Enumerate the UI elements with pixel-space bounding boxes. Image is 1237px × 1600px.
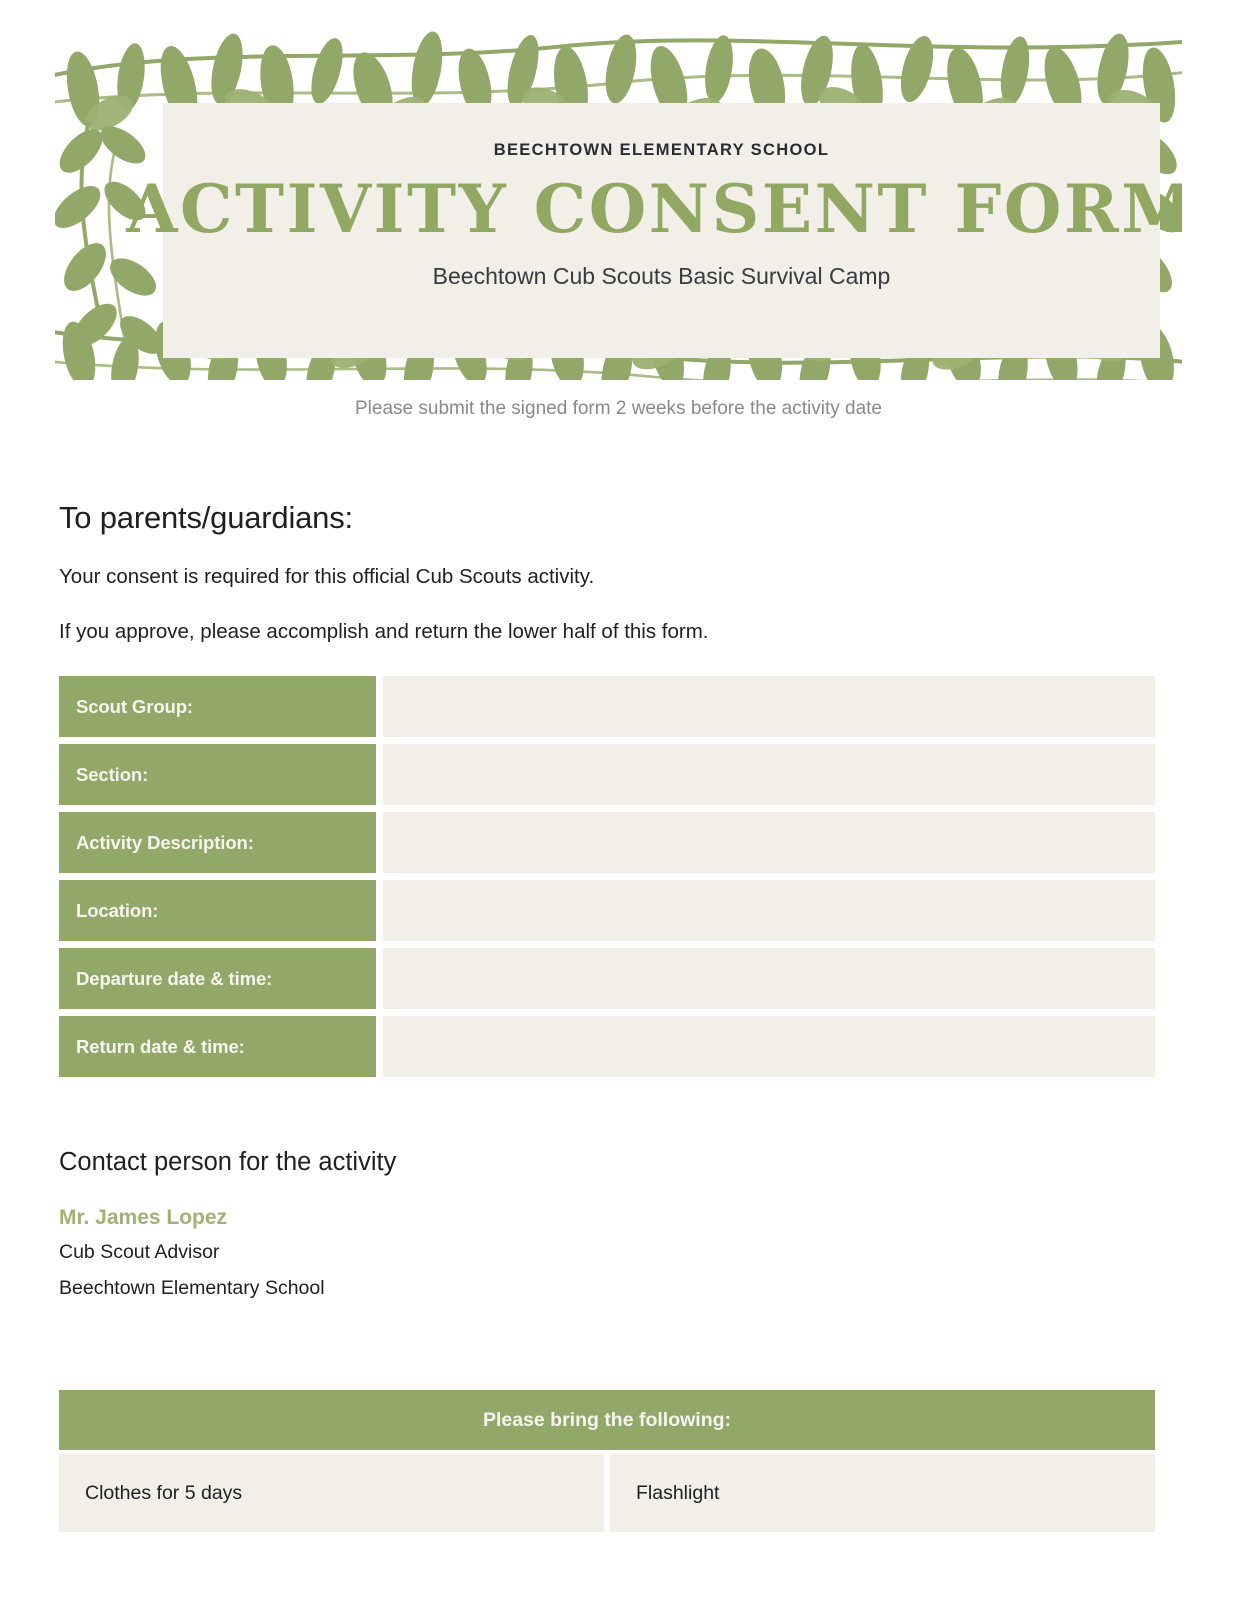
consent-form-page: BEECHTOWN ELEMENTARY SCHOOL ACTIVITY CON… [0,0,1237,1600]
form-input-return[interactable] [383,1016,1155,1077]
contact-role: Cub Scout Advisor [59,1238,959,1266]
form-label-activity-description: Activity Description: [59,812,376,873]
form-label-return: Return date & time: [59,1016,376,1077]
bring-item-cell: Clothes for 5 days [59,1454,604,1532]
page-subtitle: Beechtown Cub Scouts Basic Survival Camp [433,263,891,290]
contact-heading: Contact person for the activity [59,1148,959,1177]
bring-list-header: Please bring the following: [59,1390,1155,1450]
form-label-location: Location: [59,880,376,941]
activity-details-form: Scout Group: Section: Activity Descripti… [59,676,1155,1084]
page-title: ACTIVITY CONSENT FORM [126,176,1182,243]
header-banner: BEECHTOWN ELEMENTARY SCHOOL ACTIVITY CON… [55,25,1182,380]
form-input-activity-description[interactable] [383,812,1155,873]
form-label-scout-group: Scout Group: [59,676,376,737]
form-row: Section: [59,744,1155,805]
school-name: BEECHTOWN ELEMENTARY SCHOOL [494,141,830,160]
form-row: Activity Description: [59,812,1155,873]
form-row: Scout Group: [59,676,1155,737]
contact-organization: Beechtown Elementary School [59,1274,959,1302]
intro-heading: To parents/guardians: [59,500,1159,536]
table-row: Clothes for 5 days Flashlight [59,1454,1155,1532]
form-row: Departure date & time: [59,948,1155,1009]
submit-deadline-note: Please submit the signed form 2 weeks be… [0,398,1237,420]
intro-section: To parents/guardians: Your consent is re… [59,500,1159,645]
intro-paragraph-1: Your consent is required for this offici… [59,563,1159,591]
form-input-scout-group[interactable] [383,676,1155,737]
form-row: Location: [59,880,1155,941]
intro-paragraph-2: If you approve, please accomplish and re… [59,618,1159,646]
bring-item-cell: Flashlight [610,1454,1155,1532]
contact-section: Contact person for the activity Mr. Jame… [59,1148,959,1303]
header-title-card: BEECHTOWN ELEMENTARY SCHOOL ACTIVITY CON… [163,103,1160,358]
form-label-departure: Departure date & time: [59,948,376,1009]
contact-name: Mr. James Lopez [59,1206,959,1230]
form-input-location[interactable] [383,880,1155,941]
form-row: Return date & time: [59,1016,1155,1077]
form-input-section[interactable] [383,744,1155,805]
form-label-section: Section: [59,744,376,805]
form-input-departure[interactable] [383,948,1155,1009]
bring-list-table: Please bring the following: Clothes for … [59,1390,1155,1532]
